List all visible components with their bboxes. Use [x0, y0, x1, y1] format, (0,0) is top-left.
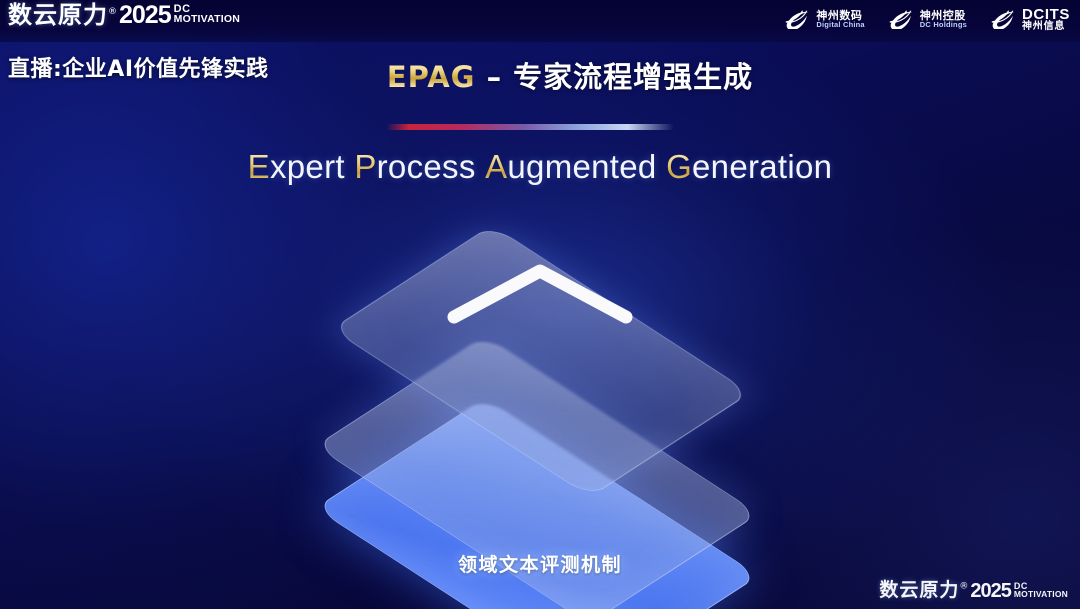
subtitle-initial: P [354, 148, 376, 185]
brand-year: 2025 [119, 3, 171, 28]
live-subtitle: 直播:企业AI价值先锋实践 [8, 51, 269, 83]
partner-name-en: Digital China [816, 21, 864, 29]
registered-mark: ® [959, 582, 969, 592]
brand-logo-top-left: 数云原力® 2025 DC MOTIVATION [8, 3, 240, 28]
partner-label: 神州数码 Digital China [816, 10, 864, 29]
partner-label: DCITS 神州信息 [1022, 7, 1070, 32]
subtitle-english: Expert Process Augmented Generation [0, 148, 1080, 186]
swirl-icon [887, 5, 915, 34]
brand-year: 2025 [970, 581, 1011, 601]
subtitle-space [345, 148, 354, 185]
subtitle-word: rocess [377, 148, 476, 185]
brand-name-cn: 数云原力® [8, 3, 118, 27]
page-title-rest: – 专家流程增强生成 [475, 60, 753, 94]
partner-name-cn: 神州信息 [1022, 22, 1070, 33]
subtitle-space [476, 148, 485, 185]
gradient-divider [386, 124, 674, 130]
brand-dc-motivation: DC MOTIVATION [174, 4, 240, 25]
partner-logo-group: 神州数码 Digital China 神州控股 DC Holdings [783, 5, 1070, 34]
partner-logo-dc-holdings: 神州控股 DC Holdings [887, 5, 967, 34]
brand-name-cn: 数云原力® [879, 581, 969, 600]
partner-name-en: DC Holdings [920, 21, 967, 29]
diagram-label-top: 领域文本评测机制 [275, 550, 805, 577]
registered-mark: ® [108, 7, 118, 17]
brand-dc-motivation: DC MOTIVATION [1014, 582, 1068, 599]
partner-logo-digital-china: 神州数码 Digital China [783, 5, 864, 34]
swirl-icon [783, 5, 811, 34]
slide-canvas: 数云原力® 2025 DC MOTIVATION 直播:企业AI价值先锋实践 神… [0, 0, 1080, 609]
subtitle-word: eneration [692, 148, 832, 185]
subtitle-initial: G [666, 148, 692, 185]
brand-motivation-text: MOTIVATION [174, 14, 240, 25]
partner-logo-dcits: DCITS 神州信息 [989, 5, 1070, 34]
swirl-icon [989, 5, 1017, 34]
brand-motivation-text: MOTIVATION [1014, 590, 1068, 599]
partner-label: 神州控股 DC Holdings [920, 10, 967, 29]
subtitle-word: xpert [270, 148, 345, 185]
page-title-accent: EPAG [387, 60, 476, 94]
subtitle-initial: A [485, 148, 507, 185]
chevron-up-icon [440, 257, 640, 334]
subtitle-space [657, 148, 666, 185]
brand-logo-bottom-right: 数云原力® 2025 DC MOTIVATION [879, 581, 1068, 601]
subtitle-initial: E [248, 148, 270, 185]
layered-diagram: 领域文本评测机制 Dynamic MOE 长文本记忆 三类语义建模模块 [275, 222, 805, 582]
subtitle-word: ugmented [507, 148, 656, 185]
